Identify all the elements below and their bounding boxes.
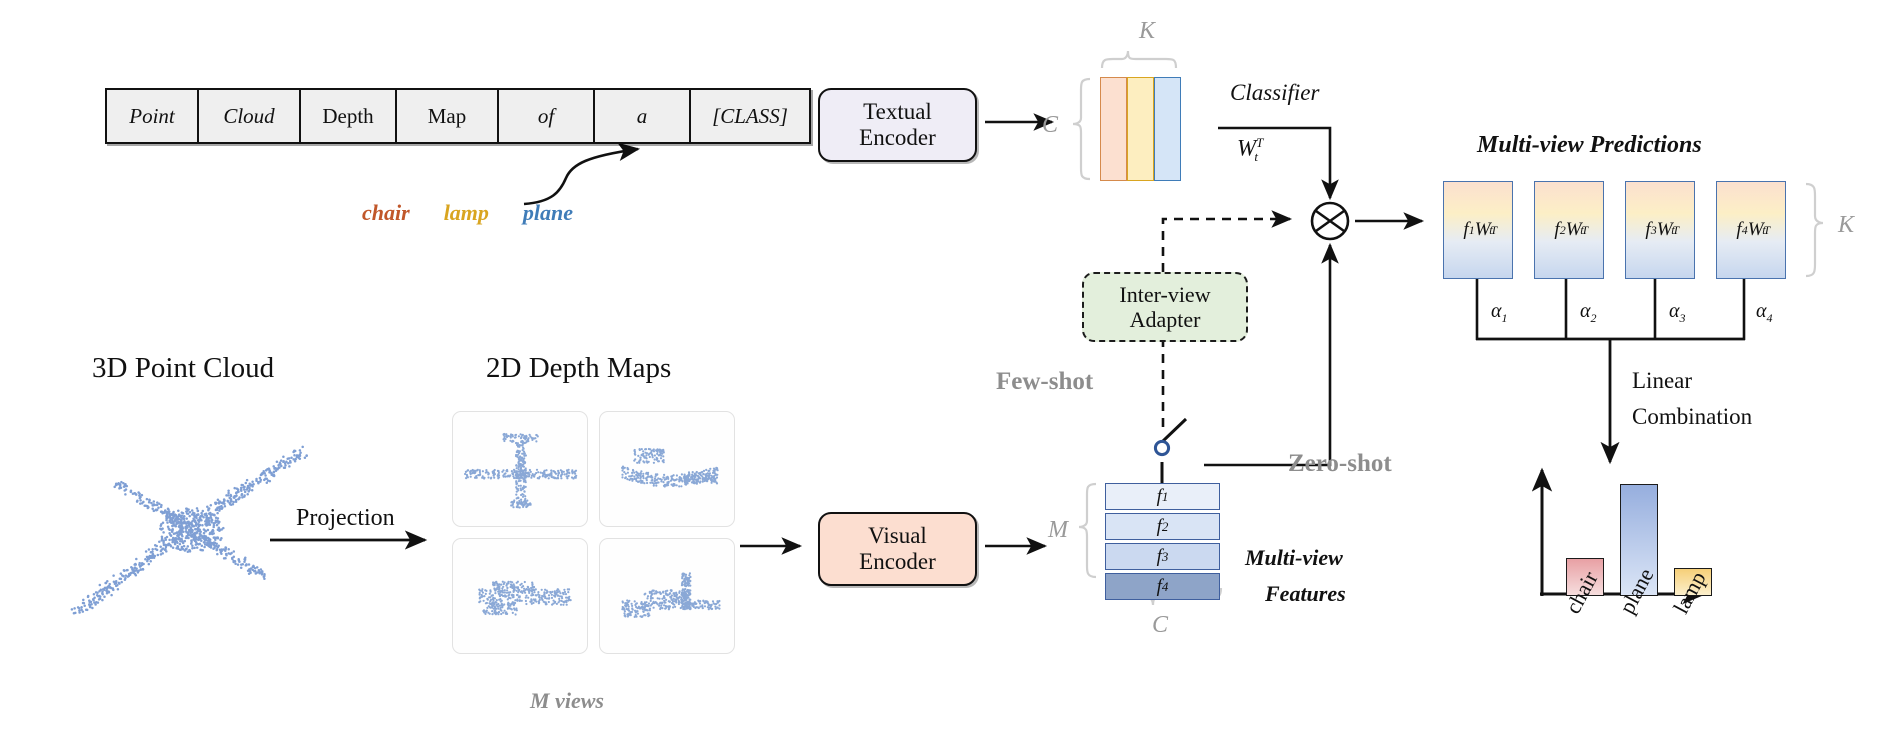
depth-tile-3-visual [453, 539, 588, 654]
brace-classifier-C [1073, 79, 1090, 179]
prediction-4-w: W [1748, 219, 1764, 241]
adapter-label-line1: Inter-view [1119, 282, 1210, 307]
feature-bar-f4: f4 [1105, 573, 1220, 600]
classifier-title: Classifier [1230, 80, 1319, 106]
brace-predictions-K [1806, 184, 1823, 276]
features-caption-line1: Multi-view [1245, 545, 1343, 571]
features-brace-label-C: C [1152, 612, 1168, 639]
prediction-1-w: W [1475, 219, 1491, 241]
inter-view-adapter-box[interactable]: Inter-view Adapter [1082, 272, 1248, 342]
prediction-2-wsub: t [1580, 223, 1583, 238]
class-word-list: chair lamp plane [362, 200, 573, 226]
prompt-cell-class[interactable]: [CLASS] [691, 90, 809, 142]
textual-encoder-label-line2: Encoder [859, 125, 936, 151]
features-caption-line2: Features [1265, 581, 1346, 607]
depth-tile-2-visual [600, 412, 735, 527]
prediction-box-3: f3WTt [1625, 181, 1695, 279]
predictions-brace-label-K: K [1838, 212, 1854, 239]
textual-encoder-box[interactable]: Textual Encoder [818, 88, 977, 162]
alpha-label-3: α3 [1669, 300, 1686, 326]
classifier-weight-label: WTt [1237, 135, 1258, 165]
classifier-brace-label-K: K [1139, 18, 1155, 45]
feature-f4-index: 4 [1162, 579, 1169, 595]
linear-combination-line1: Linear [1632, 368, 1692, 394]
feature-bar-f2: f2 [1105, 513, 1220, 540]
classifier-weight-sup: T [1256, 135, 1263, 150]
switch-pivot [1155, 441, 1168, 454]
prompt-template-row: Point Cloud Depth Map of a [CLASS] [105, 88, 811, 144]
classifier-column-chair [1100, 77, 1127, 181]
predictions-title: Multi-view Predictions [1477, 132, 1702, 159]
few-shot-label: Few-shot [996, 368, 1093, 396]
depth-maps-title: 2D Depth Maps [486, 352, 671, 385]
arrow-classifier-to-product [1218, 128, 1330, 198]
class-word-chair[interactable]: chair [362, 200, 410, 226]
tensor-product-slash-2 [1315, 211, 1344, 232]
feature-bar-f1: f1 [1105, 483, 1220, 510]
class-word-plane[interactable]: plane [523, 200, 573, 226]
prediction-2-w: W [1566, 219, 1582, 241]
views-caption: M views [530, 688, 604, 714]
tensor-product-slash-1 [1315, 211, 1344, 232]
depth-map-tile-4[interactable] [599, 538, 735, 654]
alpha-label-2: α2 [1580, 300, 1597, 326]
brace-features-M [1079, 484, 1096, 577]
prediction-4-wsub: t [1762, 223, 1765, 238]
tensor-product-circle [1312, 203, 1348, 239]
depth-map-tile-1[interactable] [452, 411, 588, 527]
adapter-label-line2: Adapter [1130, 307, 1201, 332]
prediction-box-1: f1WTt [1443, 181, 1513, 279]
arrow-class-words-to-class-token [524, 149, 638, 204]
projection-label: Projection [296, 505, 395, 532]
depth-tile-4-visual [600, 539, 735, 654]
prompt-cell-depth[interactable]: Depth [301, 90, 397, 142]
classifier-brace-label-C: C [1042, 112, 1058, 139]
arrow-adapter-to-product-dashed [1163, 219, 1290, 272]
multi-view-prediction-boxes: f1WTt f2WTt f3WTt f4WTt [1443, 181, 1786, 279]
switch-lever [1163, 419, 1186, 441]
depth-map-tile-3[interactable] [452, 538, 588, 654]
prompt-cell-of[interactable]: of [499, 90, 595, 142]
prediction-box-2: f2WTt [1534, 181, 1604, 279]
prompt-cell-a[interactable]: a [595, 90, 691, 142]
point-cloud-visual [70, 430, 320, 620]
textual-encoder-label-line1: Textual [863, 99, 932, 125]
brace-classifier-K [1102, 51, 1176, 68]
prediction-bar-chart [1542, 470, 1732, 650]
features-brace-label-M: M [1048, 517, 1068, 544]
alpha-label-1: α1 [1491, 300, 1508, 326]
prompt-cell-point[interactable]: Point [107, 90, 199, 142]
visual-encoder-label-line2: Encoder [859, 549, 936, 575]
depth-map-grid [452, 411, 735, 654]
prediction-3-w: W [1657, 219, 1673, 241]
prompt-cell-cloud[interactable]: Cloud [199, 90, 301, 142]
multi-view-feature-stack: f1 f2 f3 f4 [1105, 483, 1220, 600]
class-word-lamp[interactable]: lamp [444, 200, 489, 226]
linear-combination-line2: Combination [1632, 404, 1752, 430]
prediction-3-wsub: t [1671, 223, 1674, 238]
depth-tile-1-visual [453, 412, 588, 527]
classifier-column-plane [1154, 77, 1181, 181]
prompt-cell-map[interactable]: Map [397, 90, 499, 142]
zero-shot-label: Zero-shot [1288, 450, 1392, 478]
alpha-label-4: α4 [1756, 300, 1773, 326]
feature-f2-index: 2 [1162, 519, 1169, 535]
feature-bar-f3: f3 [1105, 543, 1220, 570]
depth-map-tile-2[interactable] [599, 411, 735, 527]
classifier-weight-sub: t [1254, 149, 1258, 164]
point-cloud-title: 3D Point Cloud [92, 352, 274, 385]
prediction-1-wsub: t [1489, 223, 1492, 238]
prediction-box-4: f4WTt [1716, 181, 1786, 279]
figure-canvas: Point Cloud Depth Map of a [CLASS] chair… [0, 0, 1882, 746]
classifier-weight-stack [1100, 77, 1181, 179]
visual-encoder-label-line1: Visual [868, 523, 927, 549]
feature-f1-index: 1 [1162, 489, 1169, 505]
visual-encoder-box[interactable]: Visual Encoder [818, 512, 977, 586]
classifier-column-lamp [1127, 77, 1154, 181]
feature-f3-index: 3 [1162, 549, 1169, 565]
